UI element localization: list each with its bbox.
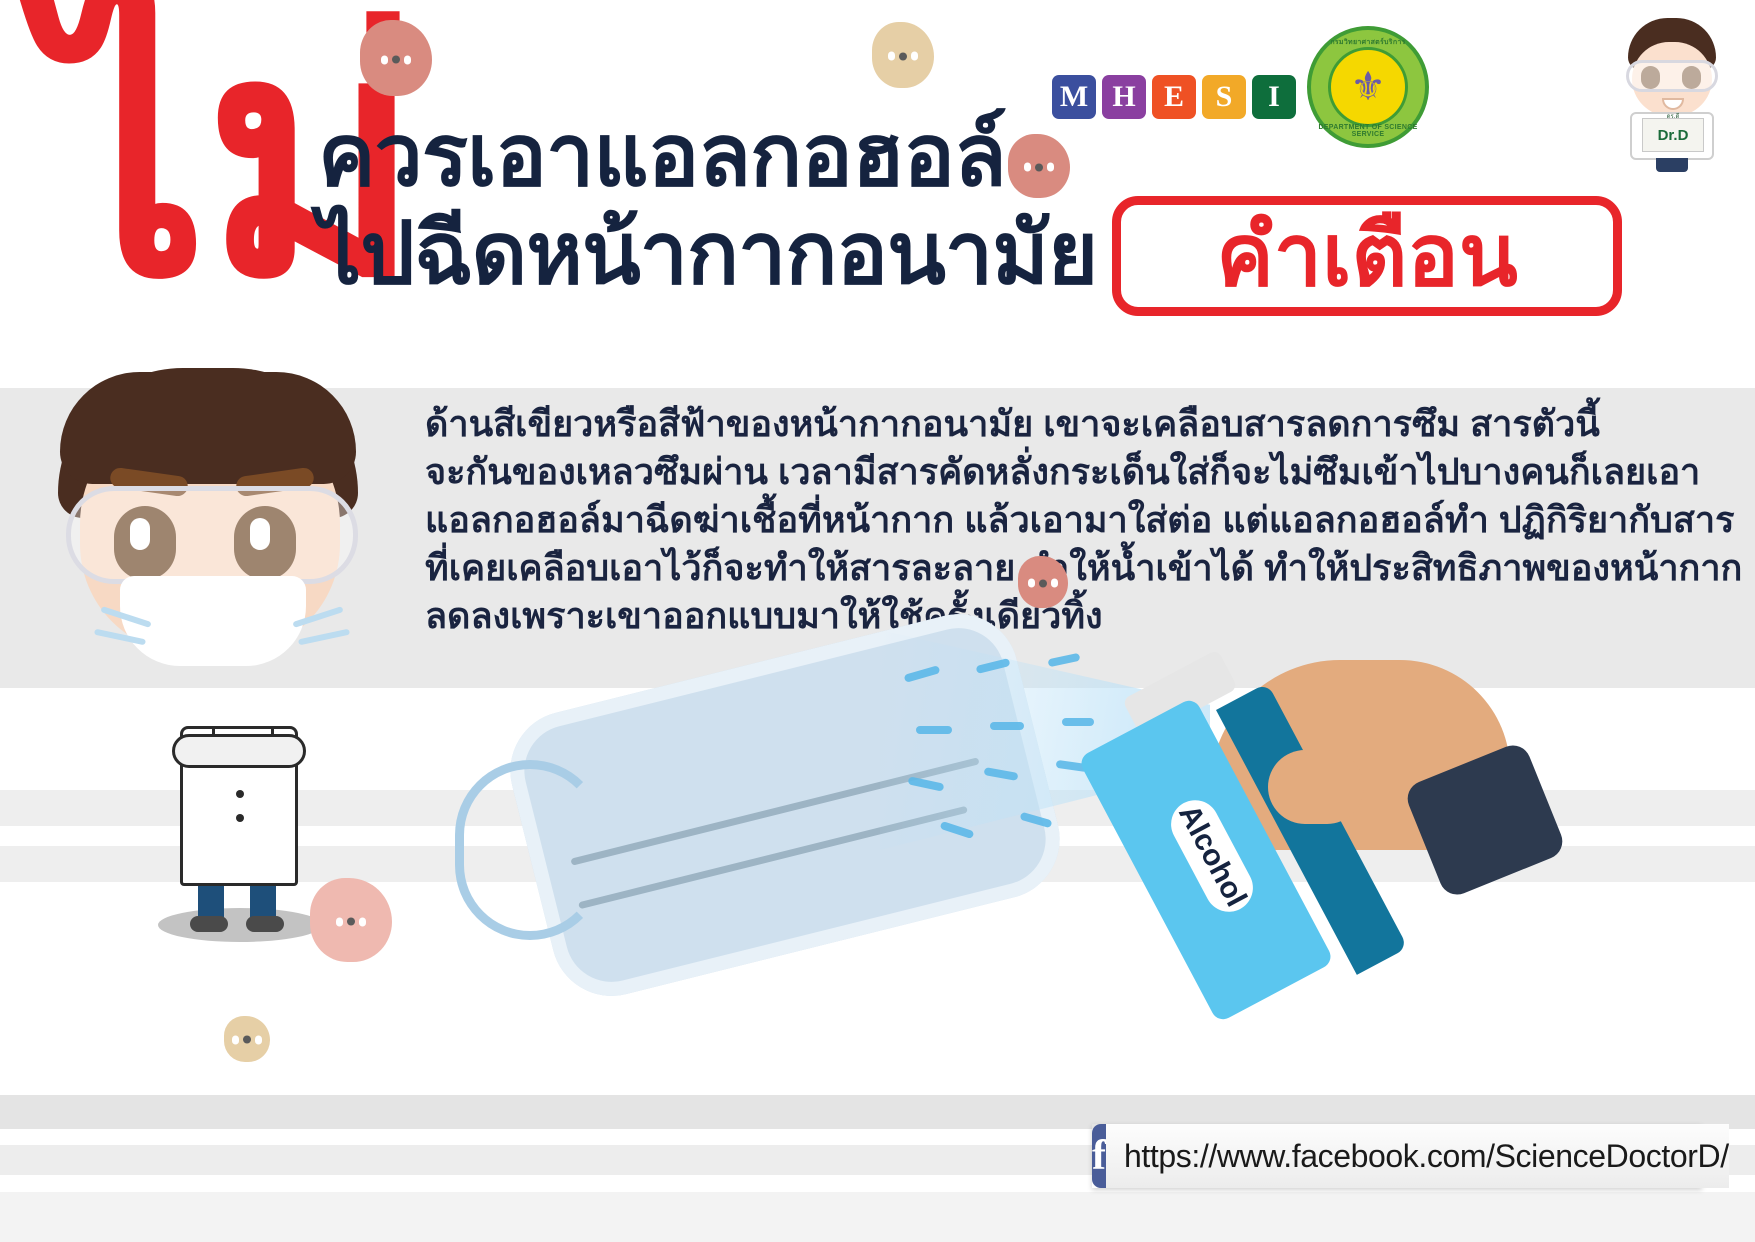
body-paragraph: ด้านสีเขียวหรือสีฟ้าของหน้ากากอนามัย เขา… xyxy=(425,400,1535,640)
facebook-link-bar[interactable]: f https://www.facebook.com/ScienceDoctor… xyxy=(1092,1124,1702,1188)
mhesi-letter-s: S xyxy=(1202,75,1246,119)
doctor-leg-left xyxy=(198,886,224,920)
doctor-shoe-right xyxy=(246,916,284,932)
seal-english-text: DEPARTMENT OF SCIENCE SERVICE xyxy=(1311,124,1425,138)
germ-eyes xyxy=(232,1035,262,1044)
spray-dash-6 xyxy=(1062,718,1094,726)
spray-dash-4 xyxy=(916,726,952,734)
boy-with-mask-illustration xyxy=(48,368,378,668)
doctor-shadow xyxy=(158,908,322,942)
germ-eyes xyxy=(1024,163,1054,172)
spray-dash-3 xyxy=(1048,653,1081,667)
boy-fringe xyxy=(60,372,356,484)
thumb xyxy=(1268,750,1364,824)
doctor-shoe-left xyxy=(190,916,228,932)
mask-ear-loop xyxy=(455,760,605,940)
germ-character-2 xyxy=(872,22,934,88)
warning-badge: คำเตือน xyxy=(1112,196,1622,316)
drd-mascot: ดร.ดี Dr.D xyxy=(1612,12,1732,172)
mhesi-letter-m: M xyxy=(1052,75,1096,119)
alcohol-spray-and-hand: Alcohol xyxy=(1120,650,1560,1050)
mhesi-letter-h: H xyxy=(1102,75,1146,119)
germ-character-4 xyxy=(1018,556,1068,608)
warning-badge-label: คำเตือน xyxy=(1216,213,1518,299)
boy-goggles-icon xyxy=(66,486,358,584)
facebook-url-text[interactable]: https://www.facebook.com/ScienceDoctorD/ xyxy=(1106,1124,1729,1188)
breath-line-4 xyxy=(298,629,350,646)
mhesi-logo: M H E S I xyxy=(1052,75,1296,119)
germ-eyes xyxy=(336,917,366,926)
poster-canvas: ไม่ ควรเอาแอลกอฮอล์ ไปฉีดหน้ากากอนามัย M… xyxy=(0,0,1755,1242)
mhesi-letter-e: E xyxy=(1152,75,1196,119)
doctor-crossed-arms xyxy=(172,734,306,768)
facebook-icon[interactable]: f xyxy=(1092,1124,1106,1188)
seal-thai-text: กรมวิทยาศาสตร์บริการ xyxy=(1311,37,1425,48)
mhesi-letter-i: I xyxy=(1252,75,1296,119)
germ-character-3 xyxy=(1008,134,1070,198)
body-line-2: จะกันของเหลวซึมผ่าน เวลามีสารคัดหลั่งกระ… xyxy=(425,448,1535,496)
headline-line-2: ไปฉีดหน้ากากอนามัย xyxy=(318,208,1097,300)
headline: ไม่ ควรเอาแอลกอฮอล์ ไปฉีดหน้ากากอนามัย xyxy=(0,0,1180,390)
body-line-4: ที่เคยเคลือบเอาไว้ก็จะทำให้สารละลาย ทำให… xyxy=(425,544,1535,592)
doctor-leg-right xyxy=(250,886,276,920)
headline-line-1: ควรเอาแอลกอฮอล์ xyxy=(318,110,1006,202)
spray-dash-5 xyxy=(990,722,1024,730)
mascot-name-sign: Dr.D xyxy=(1642,118,1704,152)
mascot-name-label: Dr.D xyxy=(1658,127,1689,144)
germ-character-6 xyxy=(224,1016,270,1062)
germ-eyes xyxy=(888,52,918,61)
seal-garuda-emblem: ⚜ xyxy=(1328,47,1408,127)
germ-character-5 xyxy=(310,878,392,962)
doctor-button-1 xyxy=(236,790,244,798)
department-of-science-service-seal: กรมวิทยาศาสตร์บริการ ⚜ DEPARTMENT OF SCI… xyxy=(1307,26,1429,148)
germ-eyes xyxy=(1028,579,1058,588)
doctor-illustration xyxy=(150,690,330,930)
mascot-legs xyxy=(1656,158,1688,172)
body-line-1: ด้านสีเขียวหรือสีฟ้าของหน้ากากอนามัย เขา… xyxy=(425,400,1535,448)
germ-character-1 xyxy=(360,20,432,96)
spray-dash-11 xyxy=(1020,812,1053,829)
mascot-goggles-icon xyxy=(1626,60,1718,92)
doctor-button-2 xyxy=(236,814,244,822)
germ-eyes xyxy=(381,55,411,64)
body-line-3: แอลกอฮอล์มาฉีดฆ่าเชื้อที่หน้ากาก แล้วเอา… xyxy=(425,496,1535,544)
stripe-band-5 xyxy=(0,1192,1755,1242)
